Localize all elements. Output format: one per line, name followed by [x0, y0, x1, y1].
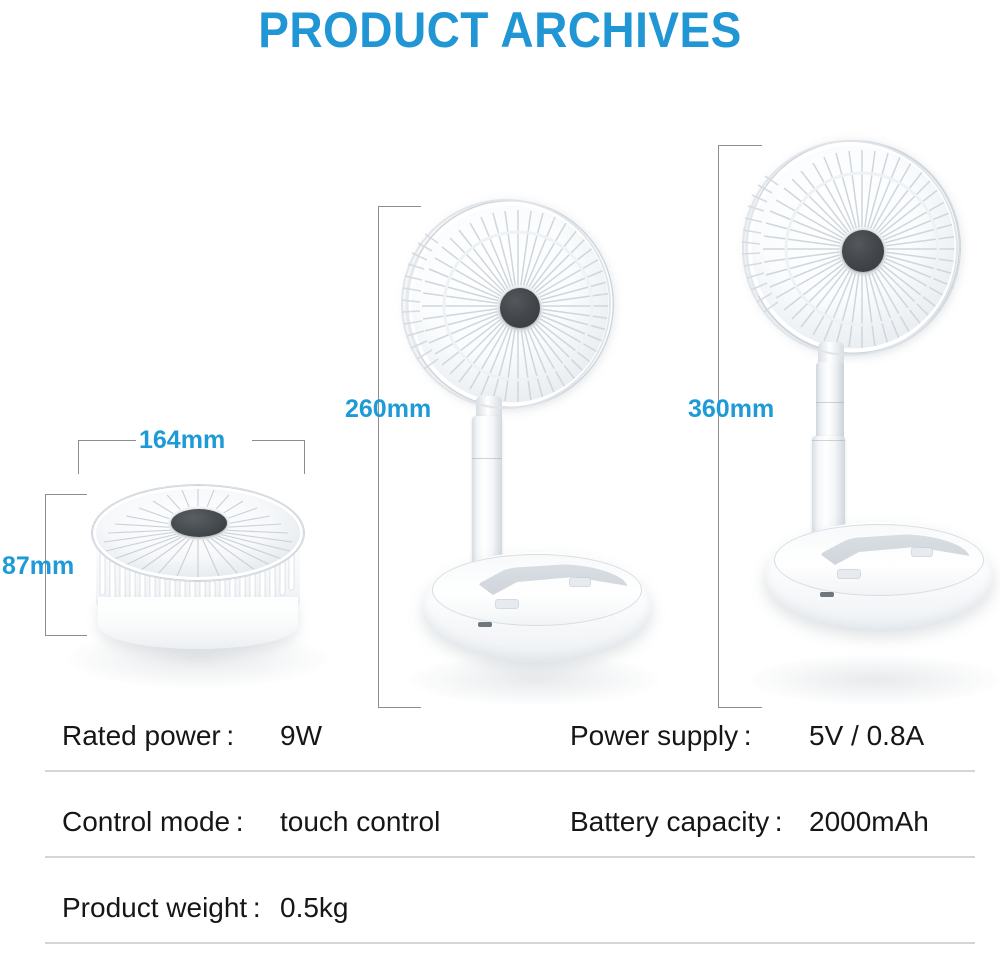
fan-260-head — [406, 200, 614, 408]
spec-value-control-mode: touch control — [280, 804, 440, 840]
spec-value-power-supply: 5V / 0.8A — [809, 718, 924, 754]
specifications-table: Rated power : 9W Power supply : 5V / 0.8… — [0, 700, 1000, 953]
fan-260-base — [422, 552, 652, 662]
spec-label-product-weight: Product weight : — [62, 890, 261, 926]
spec-value-product-weight: 0.5kg — [280, 890, 349, 926]
spec-row-1: Rated power : 9W Power supply : 5V / 0.8… — [0, 700, 1000, 784]
fan-260-outer-cage — [400, 198, 625, 410]
bracket-164mm-line-right — [252, 440, 305, 441]
bracket-87mm-top-tick — [45, 494, 87, 495]
bracket-360mm-line — [718, 145, 719, 708]
fan-360-base — [764, 522, 994, 632]
spec-value-battery-capacity: 2000mAh — [809, 804, 929, 840]
fan-260-base-top — [432, 554, 642, 626]
fan-260-indicator — [570, 578, 590, 586]
page-title: PRODUCT ARCHIVES — [40, 2, 960, 58]
fan-360-head — [746, 140, 961, 355]
bracket-360mm-top-tick — [718, 145, 762, 146]
spec-label-control-mode: Control mode : — [62, 804, 243, 840]
bracket-164mm-left-tick — [78, 440, 79, 474]
bracket-260mm-top-tick — [378, 206, 421, 207]
folded-fan-base-ring — [98, 597, 298, 649]
product-archives-page: PRODUCT ARCHIVES 164mm 87mm 260mm 360mm — [0, 0, 1000, 953]
dimension-label-260mm: 260mm — [345, 395, 431, 424]
dimension-label-164mm: 164mm — [139, 426, 225, 455]
bracket-360mm-bottom-tick — [718, 707, 762, 708]
folded-fan-hub — [171, 509, 227, 537]
spec-divider-1 — [45, 770, 975, 772]
product-fan-360mm — [740, 140, 1000, 710]
bracket-164mm-line-left — [78, 440, 136, 441]
dimension-label-87mm: 87mm — [2, 552, 74, 581]
bracket-87mm-bottom-tick — [45, 635, 87, 636]
spec-row-2: Control mode : touch control Battery cap… — [0, 786, 1000, 870]
dimension-label-360mm: 360mm — [688, 395, 774, 424]
fan-360-indicator — [912, 548, 932, 556]
product-fan-260mm — [400, 200, 660, 710]
fan-260-cage-svg — [400, 198, 625, 410]
spec-label-power-supply: Power supply : — [570, 718, 751, 754]
spec-divider-2 — [45, 856, 975, 858]
spec-value-rated-power: 9W — [280, 718, 322, 754]
fan-360-pole-joint-lower — [812, 440, 845, 441]
fan-360-base-top — [774, 524, 984, 596]
fan-360-usb-port — [820, 592, 834, 597]
bracket-164mm-right-tick — [304, 440, 305, 474]
fan-260-pole-joint — [472, 458, 502, 459]
spec-divider-3 — [45, 942, 975, 944]
spec-row-3: Product weight : 0.5kg — [0, 872, 1000, 956]
product-diagram: 164mm 87mm 260mm 360mm — [0, 70, 1000, 700]
fan-360-pole-segment-upper — [816, 362, 844, 444]
product-folded-fan — [88, 485, 308, 645]
fan-360-control-button[interactable] — [838, 570, 860, 578]
fan-260-control-button[interactable] — [496, 600, 518, 608]
spec-label-rated-power: Rated power : — [62, 718, 234, 754]
fan-260-usb-port — [478, 622, 492, 627]
bracket-260mm-bottom-tick — [378, 707, 421, 708]
spec-label-battery-capacity: Battery capacity : — [570, 804, 783, 840]
fan-360-outer-cage — [740, 138, 972, 357]
fan-360-cage-svg — [740, 138, 972, 357]
fan-360-pole-joint-upper — [816, 402, 844, 403]
bracket-260mm-line — [378, 206, 379, 708]
